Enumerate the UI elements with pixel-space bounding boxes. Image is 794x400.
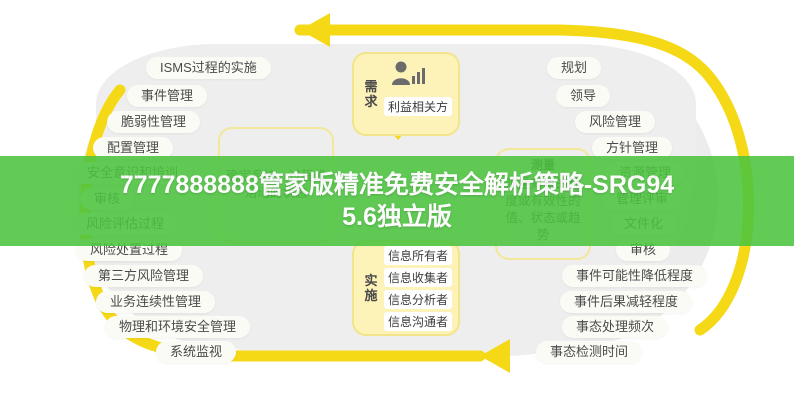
- list-item[interactable]: 系统监视: [156, 341, 236, 363]
- list-item[interactable]: 利益相关方: [384, 97, 452, 116]
- list-item[interactable]: 业务连续性管理: [96, 291, 215, 313]
- list-item[interactable]: 信息所有者: [384, 246, 452, 265]
- person-with-bar-chart-icon: [386, 60, 426, 86]
- list-item[interactable]: 信息分析者: [384, 290, 452, 309]
- needs-card[interactable]: 需求 利益相关方: [352, 52, 460, 136]
- list-item[interactable]: 第三方风险管理: [84, 265, 203, 287]
- list-item[interactable]: 事态检测时间: [536, 341, 642, 363]
- list-item[interactable]: 信息沟通者: [384, 312, 452, 331]
- list-item[interactable]: 事件可能性降低程度: [562, 265, 707, 287]
- implement-card-label: 实施: [362, 273, 380, 303]
- list-item[interactable]: 物理和环境安全管理: [105, 316, 250, 338]
- list-item[interactable]: 规划: [547, 57, 601, 79]
- list-item[interactable]: 信息收集者: [384, 268, 452, 287]
- list-item[interactable]: 领导: [556, 85, 610, 107]
- watermark-line-2: 5.6独立版: [342, 201, 452, 233]
- needs-card-label: 需求: [362, 79, 380, 109]
- implement-card[interactable]: 实施 信息所有者 信息收集者 信息分析者 信息沟通者: [352, 240, 460, 336]
- left-arrow-icon: [300, 13, 330, 47]
- list-item[interactable]: 事件管理: [127, 85, 207, 107]
- watermark-banner: 7777888888管家版精准免费安全解析策略-SRG94 5.6独立版: [0, 156, 794, 246]
- list-item[interactable]: 事态处理频次: [562, 316, 668, 338]
- diagram-canvas: ISMS过程的实施 事件管理 脆弱性管理 配置管理 安全意识和培训 审核 风险评…: [0, 0, 794, 400]
- watermark-line-1: 7777888888管家版精准免费安全解析策略-SRG94: [120, 169, 674, 201]
- list-item[interactable]: 脆弱性管理: [107, 111, 200, 133]
- list-item[interactable]: 风险管理: [575, 111, 655, 133]
- list-item[interactable]: 事件后果减轻程度: [560, 291, 692, 313]
- list-item[interactable]: ISMS过程的实施: [146, 57, 271, 79]
